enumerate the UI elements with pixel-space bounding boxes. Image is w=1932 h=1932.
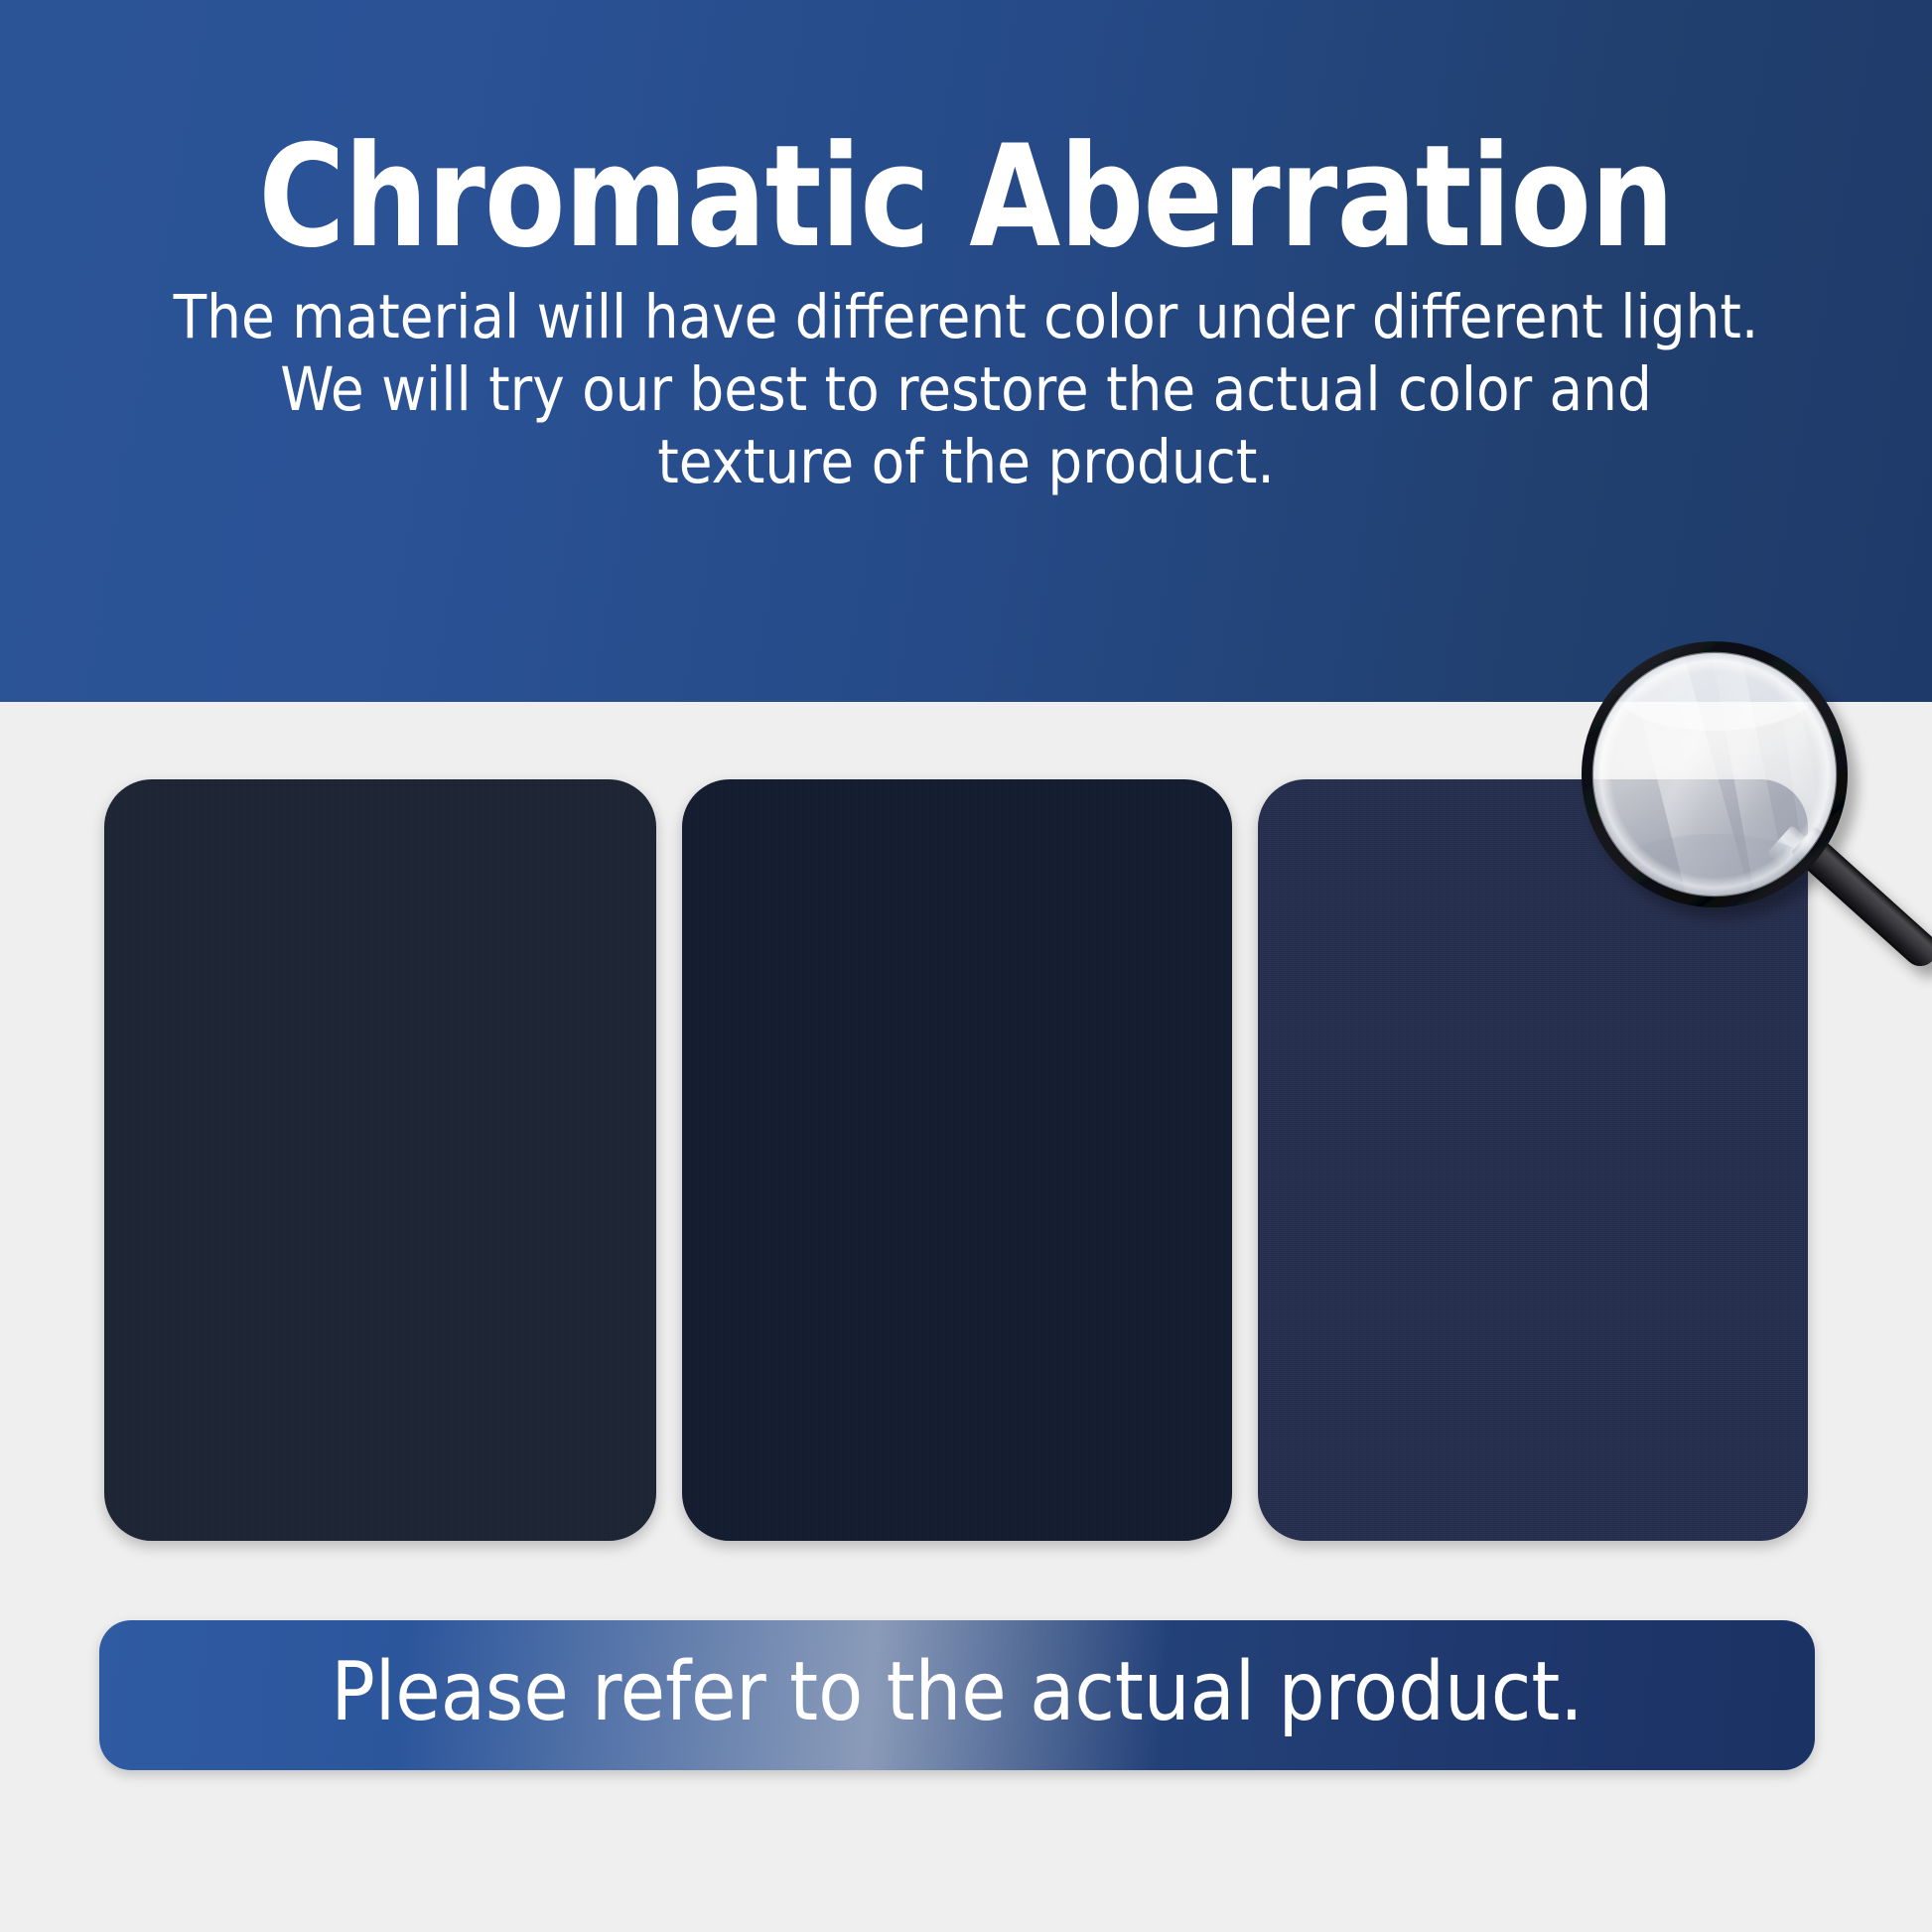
header-banner: Chromatic Aberration The material will h…	[0, 0, 1932, 702]
banner-label: Please refer to the actual product.	[331, 1652, 1583, 1733]
header-subtitle: The material will have different color u…	[92, 281, 1840, 498]
page-title: Chromatic Aberration	[68, 127, 1864, 268]
color-swatch-left[interactable]	[104, 779, 656, 1541]
color-swatch-center[interactable]	[682, 779, 1232, 1541]
subtitle-line-3: texture of the product.	[92, 426, 1840, 498]
subtitle-line-1: The material will have different color u…	[92, 281, 1840, 353]
color-swatch-right[interactable]	[1258, 779, 1808, 1541]
infographic-page: Chromatic Aberration The material will h…	[0, 0, 1932, 1932]
subtitle-line-2: We will try our best to restore the actu…	[92, 353, 1840, 426]
refer-to-product-banner[interactable]: Please refer to the actual product.	[99, 1620, 1815, 1770]
